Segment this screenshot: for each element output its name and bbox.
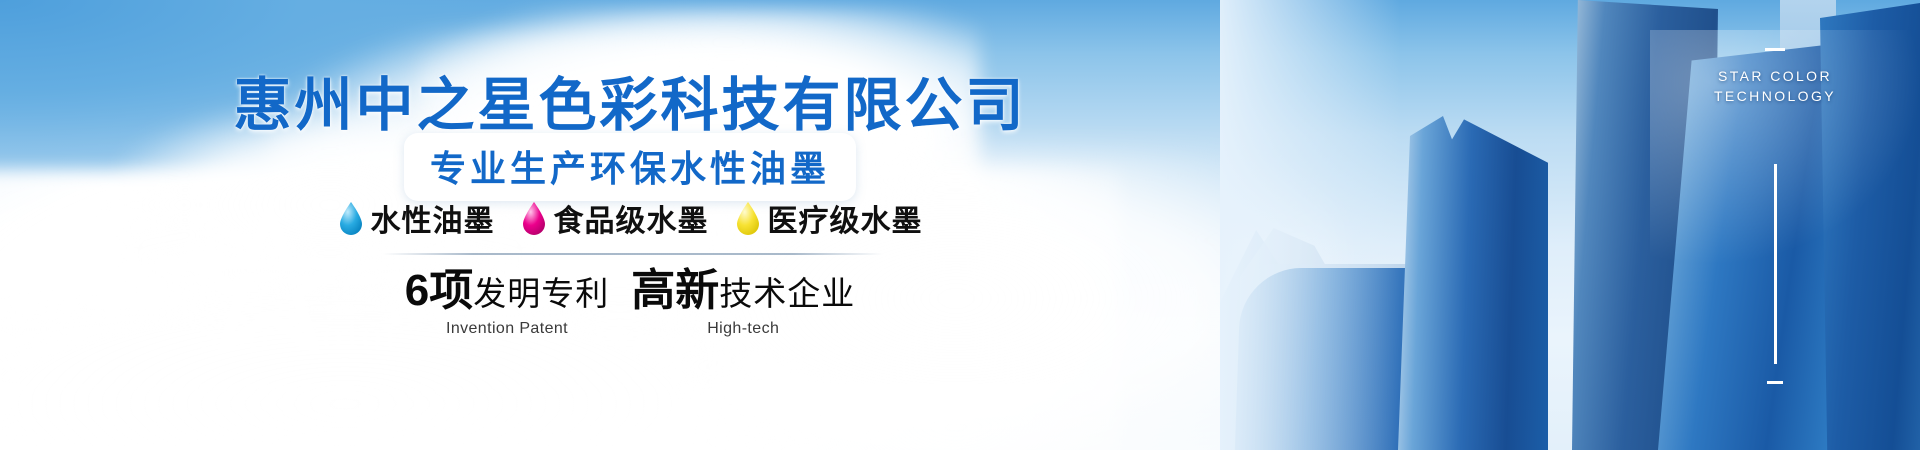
product-label: 水性油墨 [371,196,495,240]
badge-cn-text: 6项发明专利 [405,268,609,317]
caption-tick-line [1774,164,1777,364]
badge-number: 高新 [631,266,719,315]
building-center-tower [1398,116,1548,450]
section-divider [383,253,883,255]
list-item: 医疗级水墨 [735,196,923,240]
caption-tick-top [1765,48,1785,51]
tagline-row: 专业生产环保水性油墨 [0,133,1260,201]
product-label: 医疗级水墨 [768,196,923,240]
list-item: 水性油墨 [338,196,495,240]
page-title: 惠州中之星色彩科技有限公司 [0,58,1260,142]
list-item: 食品级水墨 [521,196,709,240]
product-list: 水性油墨 食品级水墨 医疗级水墨 [0,196,1260,240]
building-caption-line1: STAR COLOR [1660,66,1890,86]
skyscrapers-photo: STAR COLOR TECHNOLOGY [1220,0,1920,450]
water-drop-icon [338,201,364,235]
credentials-row: 6项发明专利 Invention Patent 高新技术企业 High-tech [0,268,1260,338]
building-caption: STAR COLOR TECHNOLOGY [1660,66,1890,106]
water-drop-icon [735,201,761,235]
banner-content: 惠州中之星色彩科技有限公司 专业生产环保水性油墨 水性油墨 [0,0,1260,450]
promo-banner: Star Color STAR COLOR TECHNOLOGY 惠州中之星色彩… [0,0,1920,450]
water-drop-icon [521,201,547,235]
badge-invention-patent: 6项发明专利 Invention Patent [405,268,609,338]
caption-tick-bottom [1767,381,1783,384]
badge-en-text: Invention Patent [405,320,609,338]
badge-label: 发明专利 [473,275,609,312]
badge-cn-text: 高新技术企业 [631,268,855,317]
badge-label: 技术企业 [719,275,855,312]
tagline-pill: 专业生产环保水性油墨 [404,133,856,201]
product-label: 食品级水墨 [554,196,709,240]
badge-en-text: High-tech [631,320,855,338]
badge-high-tech: 高新技术企业 High-tech [631,268,855,338]
building-caption-line2: TECHNOLOGY [1660,86,1890,106]
badge-number: 6项 [405,266,473,315]
